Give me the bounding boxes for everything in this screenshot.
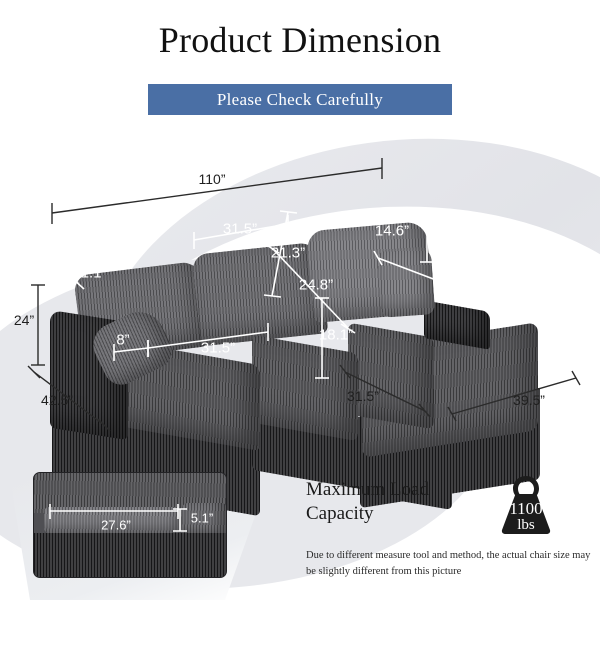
dimension-label-seat-height-18: 18.1”	[319, 327, 353, 344]
dimension-label-arm-width-11: 11.1”	[73, 265, 106, 282]
seat-cushion-corner	[348, 322, 434, 429]
dimension-label-back-cushion-31: 31.5”	[223, 221, 257, 238]
dimension-label-back-height-21: 21.3”	[271, 245, 305, 262]
load-capacity-heading-line2: Capacity	[306, 502, 476, 526]
dimension-label-chaise-len-56: 56.3”	[455, 284, 489, 301]
load-capacity-block: Maximum Load Capacity 1100 lbs	[306, 478, 586, 527]
inset-detail-photo: 27.6” 5.1”	[33, 472, 227, 578]
dimension-label-depth-42: 42.5”	[41, 392, 73, 408]
seat-cushion-middle	[252, 335, 358, 442]
inset-label-cushion-thickness: 5.1”	[191, 511, 213, 526]
dimension-label-seat-diag-24: 24.8”	[299, 277, 333, 294]
subtitle-banner: Please Check Carefully	[148, 84, 452, 115]
dimension-label-height-24: 24”	[14, 312, 34, 328]
page-title: Product Dimension	[0, 22, 600, 60]
weight-icon: 1100 lbs	[494, 474, 558, 536]
dimension-label-seat-width-31: 31.5”	[201, 340, 235, 357]
subtitle-banner-label: Please Check Carefully	[217, 90, 383, 110]
dimension-label-seat-back-8: 8”	[116, 332, 129, 349]
dimension-label-chaise-arm-14: 14.6”	[375, 223, 409, 240]
disclaimer-text: Due to different measure tool and method…	[306, 548, 592, 581]
inset-base	[34, 533, 226, 577]
weight-icon-value: 1100	[509, 499, 542, 518]
accent-pillow-right	[377, 246, 436, 318]
dimension-label-chaise-depth-31: 31.5”	[347, 388, 379, 404]
weight-icon-unit: lbs	[517, 517, 535, 533]
dimension-label-width-110: 110”	[199, 171, 226, 187]
dimension-label-chaise-width-39: 39.5”	[513, 392, 545, 408]
load-capacity-heading: Maximum Load Capacity	[306, 478, 476, 527]
load-capacity-heading-line1: Maximum Load	[306, 478, 476, 502]
inset-label-cushion-width: 27.6”	[101, 518, 131, 533]
